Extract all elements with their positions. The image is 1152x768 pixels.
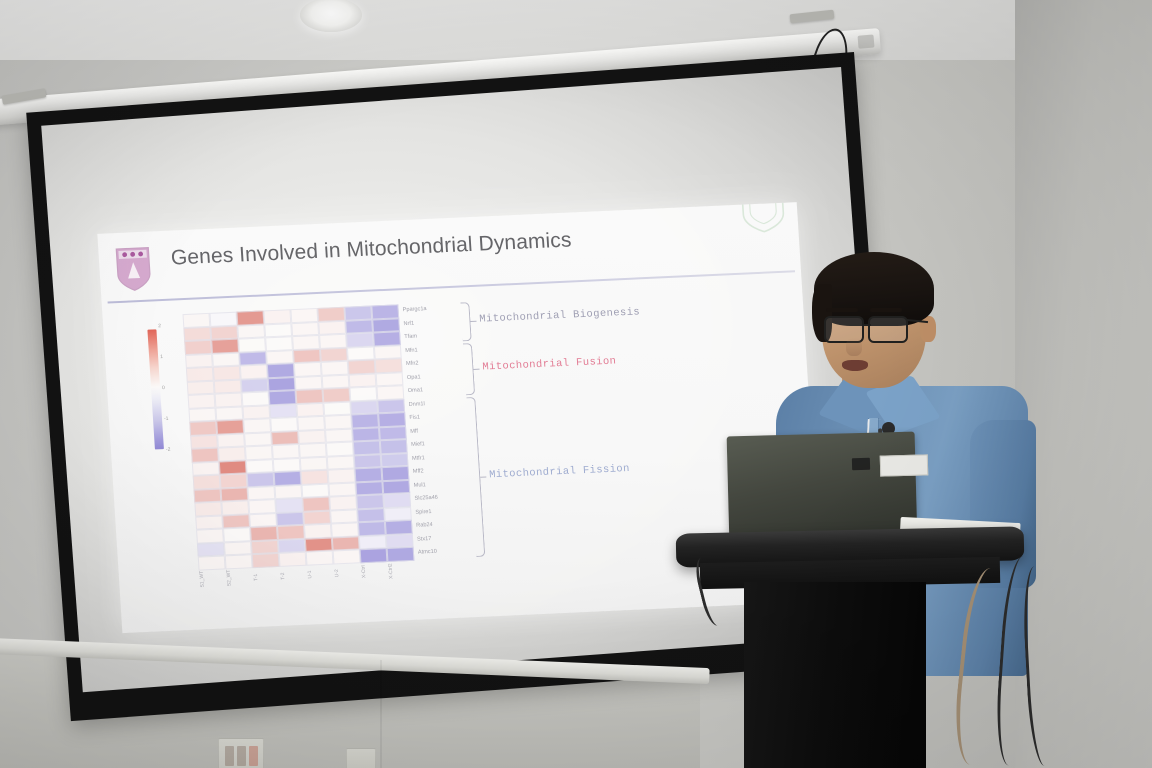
heatmap-cell: [213, 366, 241, 381]
heatmap-cell: [294, 362, 322, 377]
sample-label: S1_WT: [198, 558, 227, 599]
heatmap-cell: [332, 536, 360, 551]
heatmap-cell: [347, 346, 375, 361]
heatmap-cell: [278, 538, 306, 553]
nose: [846, 338, 862, 356]
colorbar-tick: -1: [164, 416, 169, 422]
sample-axis-labels: S1_WTS2_WTT-1T-2U-1U-2X-CtrlX-Ctrl2: [198, 550, 416, 600]
heatmap-cell: [239, 351, 267, 366]
heatmap-cell: [378, 412, 406, 427]
heatmap-cell: [188, 394, 216, 409]
heatmap-cell: [215, 406, 243, 421]
heatmap-cell: [322, 374, 350, 389]
heatmap-cell: [321, 361, 349, 376]
heatmap-cell: [210, 325, 238, 340]
heatmap-cell: [263, 309, 291, 324]
heatmap-cell: [187, 380, 215, 395]
heatmap-cell: [248, 499, 276, 514]
heatmap-cell: [274, 471, 302, 486]
heatmap-cell: [218, 446, 246, 461]
heatmap-cell: [328, 468, 356, 483]
heatmap-cell: [275, 498, 303, 513]
heatmap-cell: [221, 500, 249, 515]
laptop-brand-logo: [852, 458, 870, 470]
sample-label: X-Ctrl: [360, 551, 389, 592]
hair: [814, 252, 934, 326]
heatmap-cell: [379, 426, 407, 441]
heatmap-cell: [326, 441, 354, 456]
heatmap-cell: [192, 461, 220, 476]
heatmap-cell: [242, 405, 270, 420]
brace-tick: [473, 368, 479, 369]
heatmap-cell: [209, 312, 237, 327]
heatmap-cell: [380, 439, 408, 454]
heatmap-cell: [219, 460, 247, 475]
sample-label: T-1: [252, 556, 281, 597]
wall-outlet-1[interactable]: [218, 738, 264, 768]
heatmap-cell: [299, 443, 327, 458]
heatmap-cell: [322, 388, 350, 403]
heatmap-cell: [272, 444, 300, 459]
heatmap-cell: [353, 440, 381, 455]
heatmap-cell: [195, 515, 223, 530]
heatmap-cell: [247, 472, 275, 487]
heatmap-cell: [220, 487, 248, 502]
heatmap-cell: [271, 430, 299, 445]
heatmap-cell: [324, 415, 352, 430]
heatmap-cell: [318, 320, 346, 335]
heatmap-cell: [372, 318, 400, 333]
heatmap-cell: [304, 524, 332, 539]
heatmap-cell: [237, 324, 265, 339]
housing-endcap: [858, 35, 875, 49]
heatmap-cell: [329, 495, 357, 510]
heatmap-cell: [269, 404, 297, 419]
heatmap-cell: [245, 445, 273, 460]
laptop-screen-back[interactable]: [727, 432, 918, 545]
heatmap-cell: [194, 502, 222, 517]
heatmap-cell: [325, 428, 353, 443]
heatmap-figure: 210-1-2 Ppargc1aNrf1TfamMfn1Mfn2Opa1Oma1…: [143, 289, 761, 616]
heatmap-cell: [320, 347, 348, 362]
brace-tick: [471, 321, 477, 322]
heatmap-cell: [277, 525, 305, 540]
heatmap-cell: [212, 352, 240, 367]
heatmap-cell: [323, 401, 351, 416]
heatmap-cell: [371, 304, 399, 319]
heatmap-cell: [241, 378, 269, 393]
heatmap-cell: [246, 459, 274, 474]
heatmap-cell: [359, 535, 387, 550]
heatmap-cell: [250, 526, 278, 541]
laptop-asset-sticker: [880, 454, 929, 476]
heatmap-cell: [300, 456, 328, 471]
heatmap-cell: [189, 421, 217, 436]
heatmap-cell: [295, 389, 323, 404]
heatmap-cell: [273, 457, 301, 472]
heatmap-cell: [264, 323, 292, 338]
gene-label: Atmc10: [416, 544, 473, 560]
eyebrow-right: [870, 308, 902, 312]
heatmap-cell: [356, 494, 384, 509]
heatmap-cell: [357, 508, 385, 523]
heatmap-grid: [182, 304, 414, 570]
heatmap-cell: [374, 345, 402, 360]
group-annotation-label: Mitochondrial Fusion: [482, 355, 617, 373]
heatmap-cell: [274, 484, 302, 499]
heatmap-cell: [191, 448, 219, 463]
heatmap-cell: [355, 481, 383, 496]
heatmap-cell: [267, 363, 295, 378]
heatmap-cell: [291, 321, 319, 336]
sample-label: U-1: [306, 554, 335, 595]
heatmap-cell: [301, 470, 329, 485]
heatmap-cell: [349, 373, 377, 388]
heatmap-cell: [217, 433, 245, 448]
slide-title: Genes Involved in Mitochondrial Dynamics: [170, 219, 779, 271]
heatmap-cell: [276, 511, 304, 526]
heatmap-cell: [238, 337, 266, 352]
heatmap-cell: [266, 350, 294, 365]
heatmap-cell: [382, 466, 410, 481]
heatmap-cell: [211, 339, 239, 354]
heatmap-cell: [215, 393, 243, 408]
heatmap-cell: [292, 335, 320, 350]
heatmap-cell: [383, 493, 411, 508]
sample-label: T-2: [279, 555, 308, 596]
sample-label: U-2: [333, 552, 362, 593]
glasses-bridge: [863, 324, 871, 326]
heatmap-cell: [295, 375, 323, 390]
colorbar-tick: -2: [166, 447, 171, 453]
heatmap-cell: [223, 527, 251, 542]
heatmap-cell: [270, 417, 298, 432]
heatmap-cell: [358, 521, 386, 536]
heatmap-cell: [328, 482, 356, 497]
eyebrow-left: [826, 308, 858, 312]
colorbar-tick: 1: [160, 354, 163, 360]
heatmap-cell: [188, 407, 216, 422]
colorbar-tick: 0: [162, 385, 165, 391]
colorbar-tick: 2: [158, 323, 161, 329]
heatmap-cell: [290, 308, 318, 323]
heatmap-cell: [194, 488, 222, 503]
heatmap-cell: [352, 427, 380, 442]
mouth: [842, 360, 868, 371]
glasses-lens-right: [868, 316, 908, 343]
brace-tick: [480, 476, 486, 477]
heatmap-cell: [224, 541, 252, 556]
group-annotation-label: Mitochondrial Fission: [489, 462, 630, 480]
lecture-room-scene: 正在讲话: 匠字取话号字音… Genes Involved in Mitocho…: [0, 0, 1152, 768]
heatmap-cell: [346, 332, 374, 347]
heatmap-cell: [319, 334, 347, 349]
heatmap-cell: [348, 359, 376, 374]
heatmap-cell: [375, 358, 403, 373]
heatmap-cell: [385, 520, 413, 535]
heatmap-cell: [216, 419, 244, 434]
heatmap-cell: [220, 473, 248, 488]
heatmap-cell: [345, 319, 373, 334]
heatmap-cell: [381, 453, 409, 468]
heatmap-cell: [373, 331, 401, 346]
heatmap-cell: [268, 377, 296, 392]
heatmap-cell: [296, 402, 324, 417]
heatmap-cell: [249, 513, 277, 528]
heatmap-cell: [251, 539, 279, 554]
heatmap-cell: [298, 429, 326, 444]
heatmap-cell: [327, 455, 355, 470]
heatmap-cell: [349, 386, 377, 401]
heatmap-cell: [302, 497, 330, 512]
heatmap-cell: [376, 372, 404, 387]
heatmap-cell: [243, 418, 271, 433]
heatmap-cell: [183, 326, 211, 341]
heatmap-cell: [185, 353, 213, 368]
sample-label: X-Ctrl2: [387, 550, 416, 591]
heatmap-cell: [196, 528, 224, 543]
heatmap-cell: [303, 510, 331, 525]
wall-seam: [380, 660, 382, 768]
heatmap-cell: [182, 313, 210, 328]
heatmap-cell: [293, 348, 321, 363]
university-crest-icon: [112, 243, 155, 293]
heatmap-cell: [297, 416, 325, 431]
heatmap-cell: [305, 537, 333, 552]
heatmap-cell: [355, 467, 383, 482]
heatmap-cell: [222, 514, 250, 529]
heatmap-cell: [376, 385, 404, 400]
heatmap-cell: [240, 364, 268, 379]
heatmap-cell: [317, 307, 345, 322]
heatmap-cell: [265, 336, 293, 351]
group-annotation-label: Mitochondrial Biogenesis: [479, 307, 640, 326]
heatmap-cell: [186, 367, 214, 382]
heatmap-cell: [377, 399, 405, 414]
heatmap-cell: [354, 454, 382, 469]
heatmap-cell: [269, 390, 297, 405]
heatmap-cell: [330, 509, 358, 524]
heatmap-cell: [197, 542, 225, 557]
heatmap-cell: [386, 533, 414, 548]
heatmap-cell: [350, 400, 378, 415]
heatmap-cell: [214, 379, 242, 394]
heatmap-cell: [382, 479, 410, 494]
heatmap-cell: [190, 434, 218, 449]
sample-label: S2_WT: [225, 557, 254, 598]
wall-outlet-2[interactable]: [346, 748, 376, 768]
heatmap-cell: [344, 306, 372, 321]
heatmap-cell: [301, 483, 329, 498]
heatmap-cell: [184, 340, 212, 355]
heatmap-cell: [236, 310, 264, 325]
heatmap-cell: [384, 506, 412, 521]
heatmap-cell: [351, 413, 379, 428]
heatmap-cell: [242, 391, 270, 406]
heatmap-cell: [193, 475, 221, 490]
heatmap-cell: [244, 432, 272, 447]
podium-column: [744, 582, 926, 768]
heatmap-cell: [247, 486, 275, 501]
heatmap-cell: [331, 522, 359, 537]
